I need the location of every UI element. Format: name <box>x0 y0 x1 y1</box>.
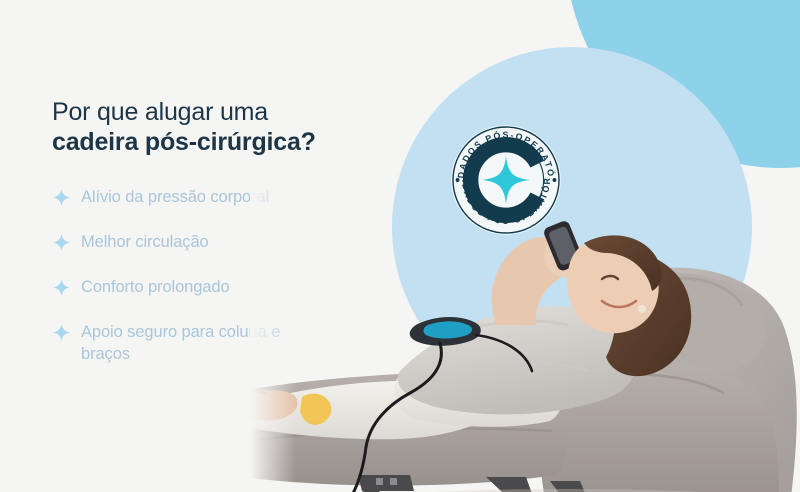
page-title: Por que alugar uma cadeira pós-cirúrgica… <box>52 98 382 157</box>
earring <box>638 305 646 313</box>
sparkle-icon <box>52 188 71 207</box>
list-item-label: Alívio da pressão corporal <box>81 187 269 209</box>
list-item-label: Conforto prolongado <box>81 277 230 299</box>
cuidados-pos-operatorio-logo: CUIDADOS PÓS-OPERATÓRIO CUIDADOS PÓS-OPE… <box>449 123 563 237</box>
sparkle-icon <box>52 233 71 252</box>
sparkle-icon <box>52 278 71 297</box>
badge-dot-left <box>456 178 460 182</box>
page-title-line-1: Por que alugar uma <box>52 98 382 128</box>
promo-banner: Por que alugar uma cadeira pós-cirúrgica… <box>0 0 800 492</box>
sparkle-icon <box>52 323 71 342</box>
page-title-line-2: cadeira pós-cirúrgica? <box>52 128 382 158</box>
badge-dot-right <box>553 178 557 182</box>
list-item-label: Melhor circulação <box>81 232 209 254</box>
